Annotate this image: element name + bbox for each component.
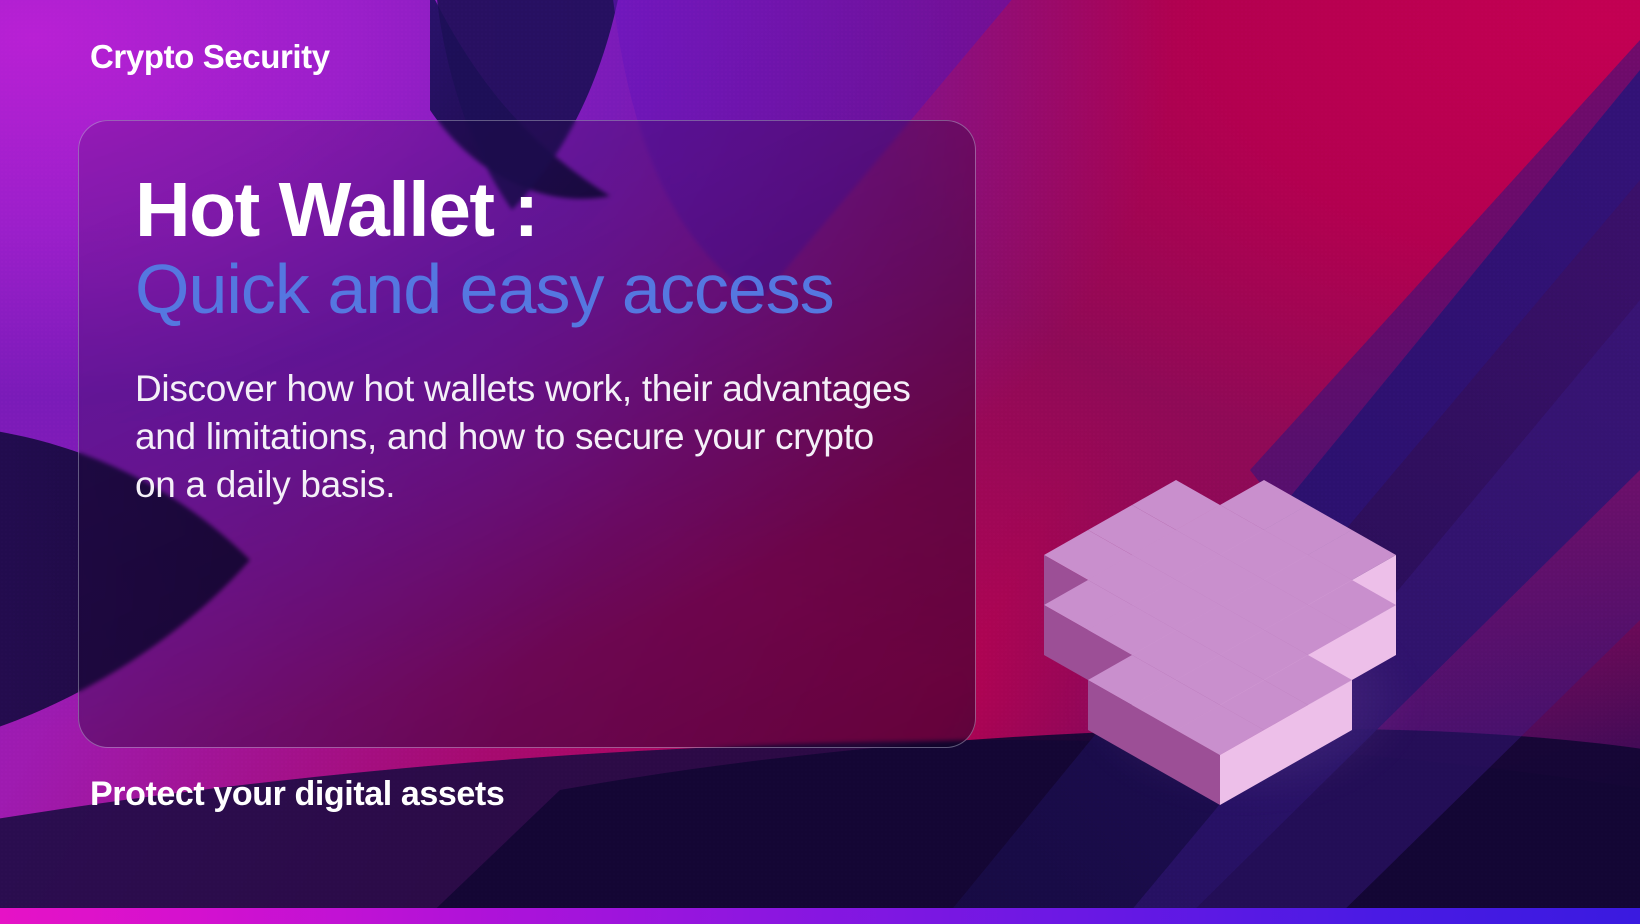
page-title: Hot Wallet : [135,173,919,248]
card-description: Discover how hot wallets work, their adv… [135,365,919,509]
title-block: Hot Wallet : Quick and easy access [135,173,919,327]
isometric-cube-stack-illustration [1020,360,1440,780]
eyebrow-label: Crypto Security [90,38,330,76]
banner-root: Crypto Security Hot Wallet : Quick and e… [0,0,1640,924]
footer-tagline: Protect your digital assets [90,775,504,814]
page-subtitle: Quick and easy access [135,252,835,327]
accent-bar [0,908,1640,924]
content-card: Hot Wallet : Quick and easy access Disco… [78,120,976,748]
